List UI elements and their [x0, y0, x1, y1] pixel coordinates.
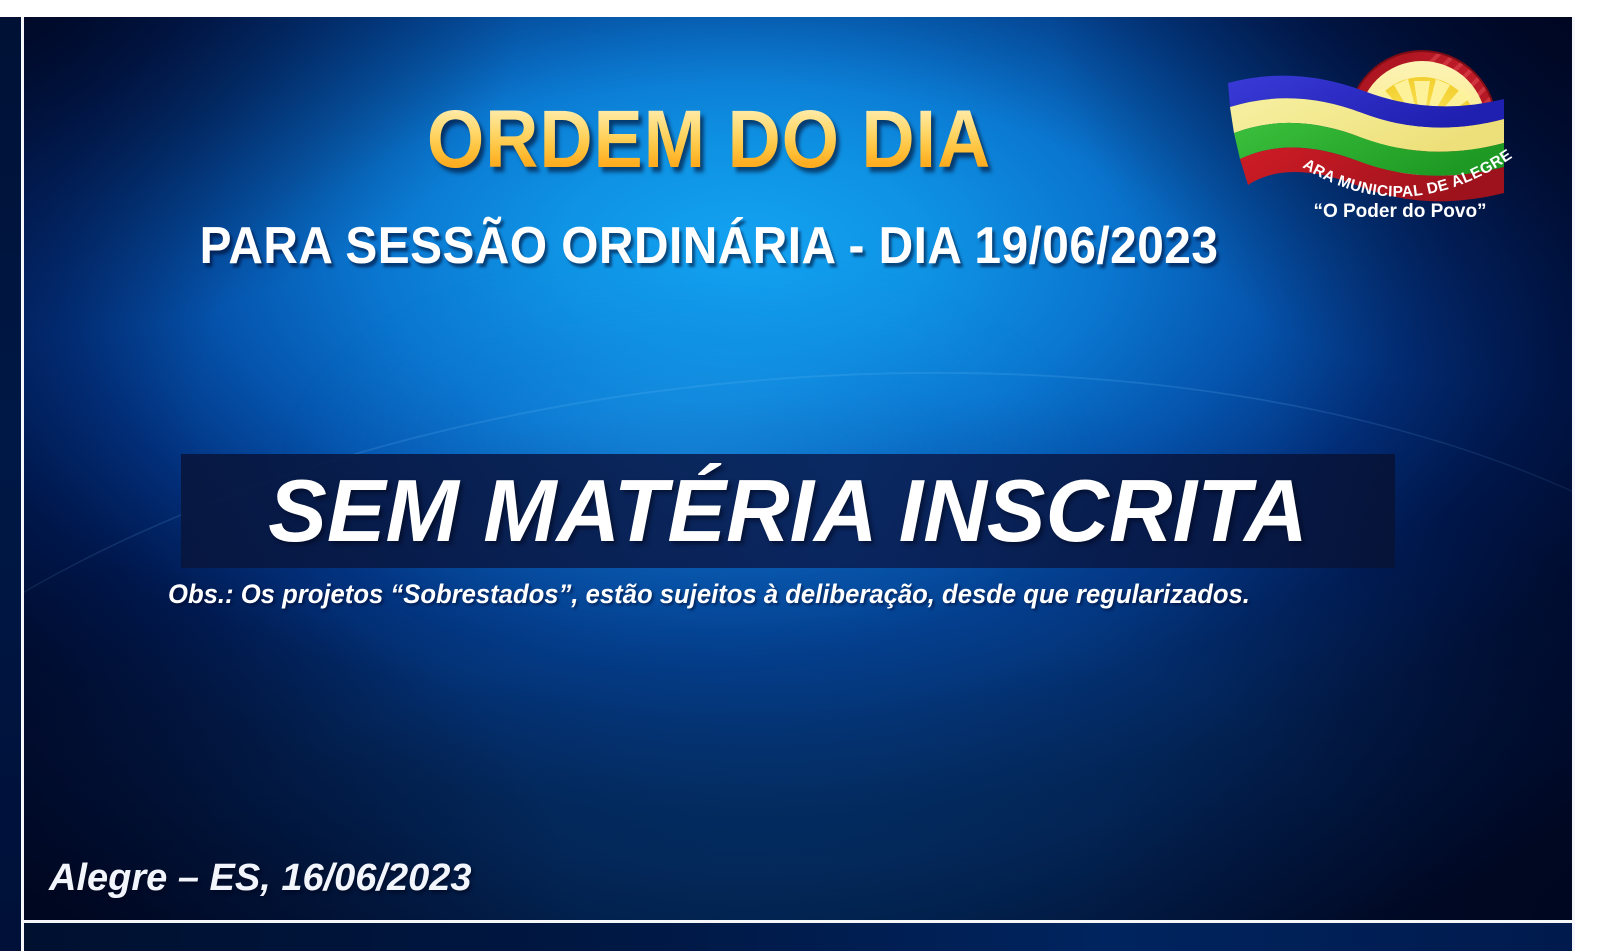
- frame-white-top: [0, 0, 1600, 17]
- seal-motto: “O Poder do Povo”: [1313, 201, 1486, 222]
- slide-content: ORDEM DO DIA PARA SESSÃO ORDINÁRIA - DIA…: [24, 17, 1572, 920]
- frame-white-right: [1575, 0, 1600, 951]
- page-subtitle: PARA SESSÃO ORDINÁRIA - DIA 19/06/2023: [79, 218, 1339, 275]
- frame-left-sliver: [0, 17, 21, 951]
- frame-rule-left: [21, 17, 24, 951]
- municipal-logo: CÂMARA MUNICIPAL DE ALEGRE - ES “O Poder…: [1204, 37, 1534, 237]
- slide-root: ORDEM DO DIA PARA SESSÃO ORDINÁRIA - DIA…: [0, 0, 1600, 951]
- frame-dark-bottom: [24, 923, 1572, 951]
- headline-message: SEM MATÉRIA INSCRITA: [181, 454, 1395, 568]
- page-title: ORDEM DO DIA: [93, 99, 1326, 181]
- slide-canvas: ORDEM DO DIA PARA SESSÃO ORDINÁRIA - DIA…: [24, 17, 1572, 920]
- footer-location-date: Alegre – ES, 16/06/2023: [49, 857, 472, 900]
- observation-note: Obs.: Os projetos “Sobrestados”, estão s…: [58, 579, 1360, 610]
